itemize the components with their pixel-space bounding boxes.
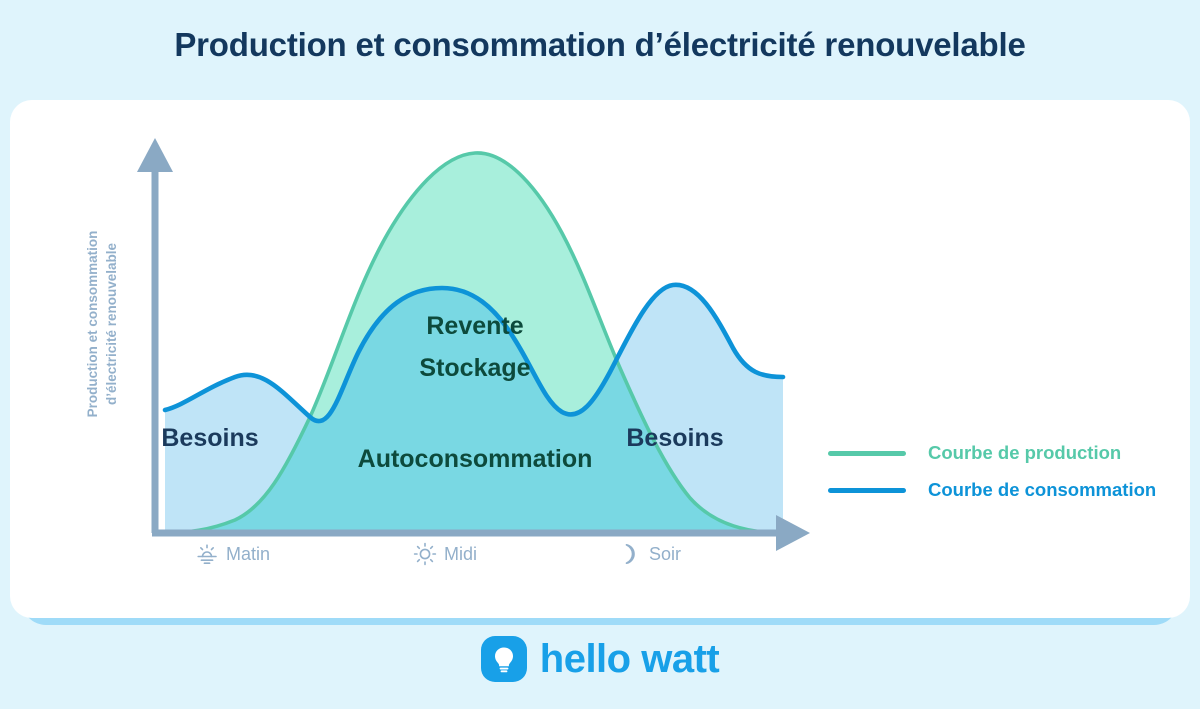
legend-swatch-production — [828, 451, 906, 456]
chart-legend: Courbe de production Courbe de consommat… — [828, 442, 1156, 501]
x-tick-soir: Soir — [618, 542, 681, 566]
region-label-revente: Revente — [340, 305, 610, 347]
x-tick-label-soir: Soir — [649, 544, 681, 565]
sunrise-icon — [195, 542, 219, 566]
legend-item-consommation[interactable]: Courbe de consommation — [828, 479, 1156, 501]
region-label-revente-stockage: Revente Stockage — [340, 305, 610, 389]
x-tick-matin: Matin — [195, 542, 270, 566]
region-label-besoins-soir: Besoins — [580, 424, 770, 453]
legend-label-consommation: Courbe de consommation — [928, 479, 1156, 501]
legend-label-production: Courbe de production — [928, 442, 1121, 464]
legend-swatch-consommation — [828, 488, 906, 493]
chart-card: Production et consommation d’électricité… — [10, 100, 1190, 618]
moon-icon — [618, 542, 642, 566]
lightbulb-icon — [481, 636, 527, 682]
sun-icon — [413, 542, 437, 566]
brand-wordmark: hello watt — [540, 639, 719, 679]
x-tick-label-matin: Matin — [226, 544, 270, 565]
x-tick-midi: Midi — [413, 542, 477, 566]
brand-logo[interactable]: hello watt — [0, 636, 1200, 682]
legend-item-production[interactable]: Courbe de production — [828, 442, 1156, 464]
x-tick-label-midi: Midi — [444, 544, 477, 565]
page-title: Production et consommation d’électricité… — [0, 26, 1200, 64]
region-label-stockage: Stockage — [340, 347, 610, 389]
plot-area: Production et consommation d’électricité… — [10, 100, 1190, 618]
